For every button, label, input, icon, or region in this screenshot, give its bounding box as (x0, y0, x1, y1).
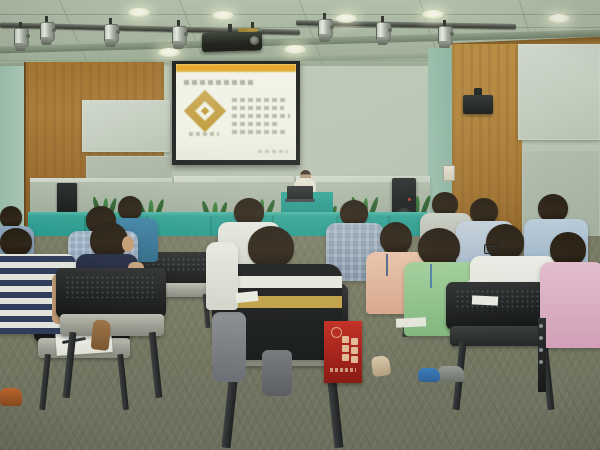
downlight-2 (212, 11, 234, 20)
shoe-left (90, 319, 111, 351)
shoe-right-attendee (438, 366, 464, 382)
conference-room-photo (0, 0, 600, 450)
gift-bag-char-3 (342, 354, 349, 361)
gift-bag-subtext (330, 368, 356, 372)
slide-body-line-5 (232, 130, 286, 134)
acoustic-panel-left-upper (82, 100, 170, 152)
glasses-icon (484, 244, 498, 254)
gift-bag-char-5 (351, 347, 358, 354)
track-spotlight-3 (172, 20, 185, 50)
gift-bag-char-2 (342, 345, 349, 352)
slide-title-text (184, 80, 254, 85)
trousers-left (212, 312, 246, 382)
chair-armrest (538, 318, 546, 392)
speaker-power-led-icon (408, 198, 411, 201)
downlight-7 (335, 14, 357, 23)
track-spotlight-8 (14, 22, 27, 52)
handout-paper-3 (472, 295, 498, 305)
gift-bag-char-6 (351, 356, 358, 363)
projector-cable (238, 28, 258, 32)
downlight-5 (284, 45, 306, 54)
gift-bag-logo-icon (331, 327, 342, 338)
floor-speaker-left (57, 183, 77, 215)
slide-logo-caption (189, 132, 219, 136)
downlight-4 (548, 14, 570, 23)
wall-mounted-speaker (463, 95, 493, 114)
slide-body-line-3 (232, 114, 290, 118)
slide-header-band (176, 64, 296, 72)
slide-body-line-1 (232, 98, 288, 102)
track-spotlight-2 (104, 18, 117, 48)
acoustic-panel-right-upper (518, 44, 600, 140)
presenter-laptop-base (285, 199, 315, 202)
face-profile (122, 236, 134, 252)
slide-footer-text (258, 150, 288, 153)
gift-bag-char-4 (351, 338, 358, 345)
track-spotlight-6 (376, 16, 389, 46)
projection-screen (176, 64, 296, 160)
table-row (56, 268, 166, 398)
projector-lens-icon (250, 36, 259, 45)
shoe-blue-sneaker (418, 368, 440, 382)
gift-bag-char-1 (342, 336, 349, 343)
downlight-3 (422, 10, 444, 19)
track-spotlight-5 (318, 13, 331, 43)
handout-paper-4 (396, 317, 426, 328)
slide-body-line-2 (232, 106, 284, 110)
shoe-sandal (371, 355, 392, 377)
shoe-orange (0, 388, 22, 406)
track-spotlight-7 (438, 20, 451, 50)
slide-body-line-4 (232, 122, 280, 126)
wall-control-panel (443, 165, 455, 181)
track-spotlight-1 (40, 16, 53, 46)
trousers-right (262, 350, 292, 396)
presenter-laptop (287, 186, 313, 200)
downlight-1 (128, 8, 150, 17)
